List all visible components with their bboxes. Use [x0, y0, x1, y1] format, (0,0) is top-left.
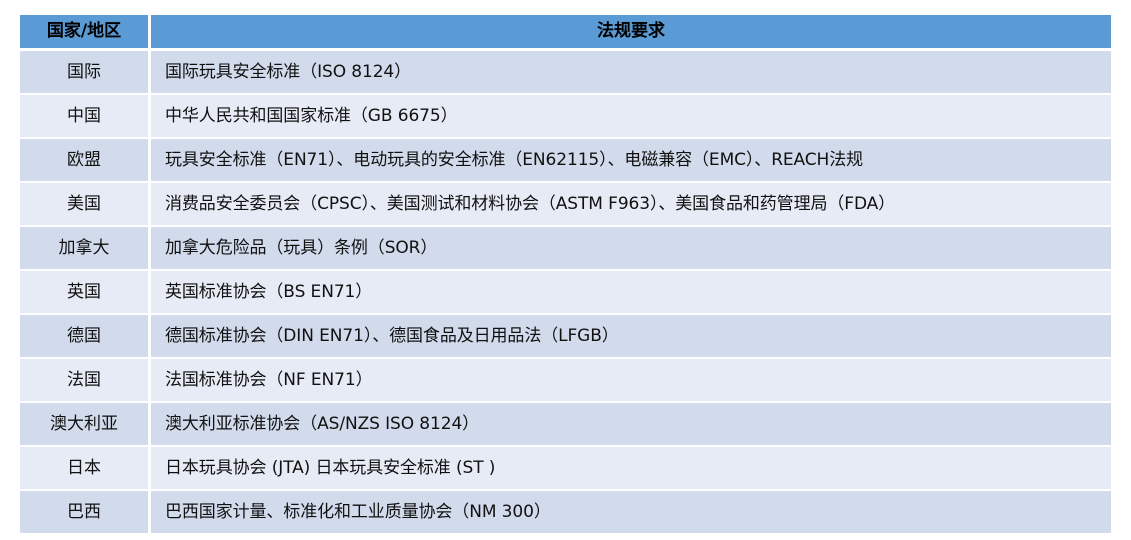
- table-row: 日本日本玩具协会 (JTA) 日本玩具安全标准 (ST ): [20, 447, 1111, 491]
- table-row: 德国德国标准协会（DIN EN71）、德国食品及日用品法（LFGB）: [20, 315, 1111, 359]
- cell-requirement: 国际玩具安全标准（ISO 8124）: [151, 51, 1111, 95]
- cell-region: 法国: [20, 359, 151, 403]
- cell-requirement: 日本玩具协会 (JTA) 日本玩具安全标准 (ST ): [151, 447, 1111, 491]
- cell-requirement: 澳大利亚标准协会（AS/NZS ISO 8124）: [151, 403, 1111, 447]
- table-row: 巴西巴西国家计量、标准化和工业质量协会（NM 300）: [20, 491, 1111, 533]
- cell-region: 中国: [20, 95, 151, 139]
- cell-region: 英国: [20, 271, 151, 315]
- cell-requirement: 法国标准协会（NF EN71）: [151, 359, 1111, 403]
- page-root: 国家/地区 法规要求 国际国际玩具安全标准（ISO 8124）中国中华人民共和国…: [0, 0, 1131, 540]
- table-row: 美国消费品安全委员会（CPSC）、美国测试和材料协会（ASTM F963）、美国…: [20, 183, 1111, 227]
- cell-region: 欧盟: [20, 139, 151, 183]
- cell-requirement: 巴西国家计量、标准化和工业质量协会（NM 300）: [151, 491, 1111, 533]
- table-row: 英国英国标准协会（BS EN71）: [20, 271, 1111, 315]
- cell-requirement: 英国标准协会（BS EN71）: [151, 271, 1111, 315]
- table-row: 欧盟玩具安全标准（EN71）、电动玩具的安全标准（EN62115）、电磁兼容（E…: [20, 139, 1111, 183]
- cell-requirement: 德国标准协会（DIN EN71）、德国食品及日用品法（LFGB）: [151, 315, 1111, 359]
- cell-region: 澳大利亚: [20, 403, 151, 447]
- cell-requirement: 加拿大危险品（玩具）条例（SOR）: [151, 227, 1111, 271]
- table-row: 中国中华人民共和国国家标准（GB 6675）: [20, 95, 1111, 139]
- table-row: 国际国际玩具安全标准（ISO 8124）: [20, 51, 1111, 95]
- cell-region: 巴西: [20, 491, 151, 533]
- cell-region: 加拿大: [20, 227, 151, 271]
- cell-region: 美国: [20, 183, 151, 227]
- cell-requirement: 中华人民共和国国家标准（GB 6675）: [151, 95, 1111, 139]
- table-row: 加拿大加拿大危险品（玩具）条例（SOR）: [20, 227, 1111, 271]
- regulations-table: 国家/地区 法规要求 国际国际玩具安全标准（ISO 8124）中国中华人民共和国…: [20, 15, 1111, 533]
- cell-requirement: 玩具安全标准（EN71）、电动玩具的安全标准（EN62115）、电磁兼容（EMC…: [151, 139, 1111, 183]
- cell-requirement: 消费品安全委员会（CPSC）、美国测试和材料协会（ASTM F963）、美国食品…: [151, 183, 1111, 227]
- column-header-region: 国家/地区: [20, 15, 151, 51]
- cell-region: 国际: [20, 51, 151, 95]
- table-header: 国家/地区 法规要求: [20, 15, 1111, 51]
- column-header-requirement: 法规要求: [151, 15, 1111, 51]
- table-row: 澳大利亚澳大利亚标准协会（AS/NZS ISO 8124）: [20, 403, 1111, 447]
- table-row: 法国法国标准协会（NF EN71）: [20, 359, 1111, 403]
- cell-region: 德国: [20, 315, 151, 359]
- table-header-row: 国家/地区 法规要求: [20, 15, 1111, 51]
- cell-region: 日本: [20, 447, 151, 491]
- table-body: 国际国际玩具安全标准（ISO 8124）中国中华人民共和国国家标准（GB 667…: [20, 51, 1111, 533]
